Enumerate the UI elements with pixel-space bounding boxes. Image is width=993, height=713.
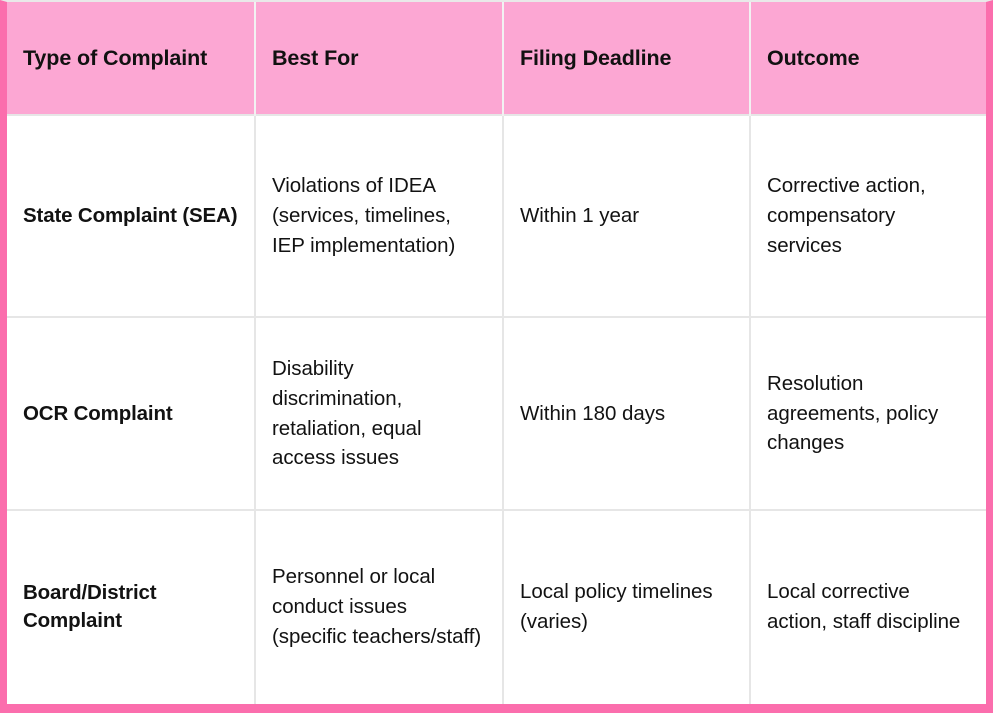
complaint-comparison-table: Type of Complaint Best For Filing Deadli… — [7, 2, 986, 704]
table-row: Board/District Complaint Personnel or lo… — [7, 510, 986, 704]
cell-text: Personnel or local conduct issues (speci… — [272, 562, 486, 652]
cell-text: Disability discrimination, retaliation, … — [272, 354, 486, 474]
table-body: State Complaint (SEA) Violations of IDEA… — [7, 115, 986, 704]
cell-best-for: Disability discrimination, retaliation, … — [255, 317, 503, 509]
complaint-comparison-table-container: Type of Complaint Best For Filing Deadli… — [0, 0, 993, 713]
cell-text: OCR Complaint — [23, 400, 238, 428]
cell-text: State Complaint (SEA) — [23, 202, 238, 230]
column-header-label: Filing Deadline — [520, 44, 733, 73]
cell-text: Corrective action, compensatory services — [767, 171, 970, 261]
cell-text: Local policy timelines (varies) — [520, 577, 733, 637]
cell-best-for: Personnel or local conduct issues (speci… — [255, 510, 503, 704]
column-header-filing-deadline: Filing Deadline — [503, 2, 750, 115]
cell-text: Within 1 year — [520, 201, 733, 231]
cell-complaint-type: State Complaint (SEA) — [7, 115, 255, 317]
cell-outcome: Resolution agreements, policy changes — [750, 317, 986, 509]
column-header-label: Outcome — [767, 44, 970, 73]
cell-filing-deadline: Within 1 year — [503, 115, 750, 317]
cell-text: Board/District Complaint — [23, 579, 238, 635]
column-header-outcome: Outcome — [750, 2, 986, 115]
table-row: State Complaint (SEA) Violations of IDEA… — [7, 115, 986, 317]
table-header-row: Type of Complaint Best For Filing Deadli… — [7, 2, 986, 115]
column-header-best-for: Best For — [255, 2, 503, 115]
column-header-label: Best For — [272, 44, 486, 73]
cell-text: Within 180 days — [520, 399, 733, 429]
cell-text: Resolution agreements, policy changes — [767, 369, 970, 459]
column-header-type-of-complaint: Type of Complaint — [7, 2, 255, 115]
cell-text: Violations of IDEA (services, timelines,… — [272, 171, 486, 261]
cell-filing-deadline: Local policy timelines (varies) — [503, 510, 750, 704]
cell-complaint-type: OCR Complaint — [7, 317, 255, 509]
cell-outcome: Corrective action, compensatory services — [750, 115, 986, 317]
cell-filing-deadline: Within 180 days — [503, 317, 750, 509]
cell-complaint-type: Board/District Complaint — [7, 510, 255, 704]
cell-text: Local corrective action, staff disciplin… — [767, 577, 970, 637]
cell-outcome: Local corrective action, staff disciplin… — [750, 510, 986, 704]
column-header-label: Type of Complaint — [23, 44, 238, 73]
table-header: Type of Complaint Best For Filing Deadli… — [7, 2, 986, 115]
table-row: OCR Complaint Disability discrimination,… — [7, 317, 986, 509]
cell-best-for: Violations of IDEA (services, timelines,… — [255, 115, 503, 317]
